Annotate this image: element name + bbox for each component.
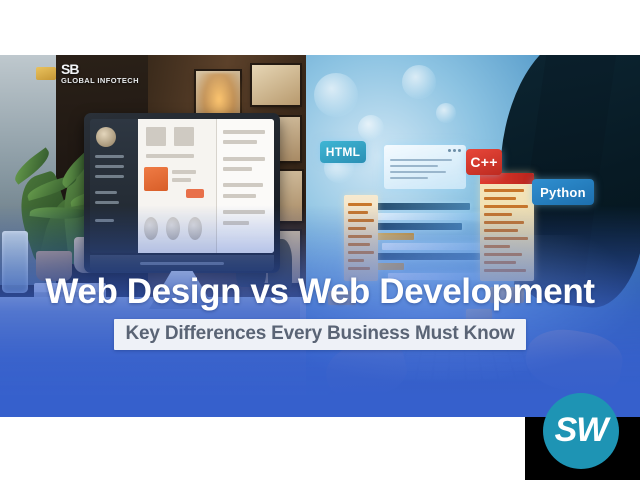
sidebar-row xyxy=(95,191,117,194)
code-line xyxy=(348,259,364,262)
brand-watermark: SB GLOBAL INFOTECH xyxy=(36,62,139,85)
code-window-card xyxy=(384,145,466,189)
window-dots-icon xyxy=(448,149,461,152)
sidebar-row xyxy=(95,155,124,158)
code-line xyxy=(348,235,372,238)
code-line xyxy=(484,197,516,200)
code-line xyxy=(348,203,372,206)
subtitle-box: Key Differences Every Business Must Know xyxy=(114,319,525,350)
code-line xyxy=(484,229,518,232)
canvas-block xyxy=(174,127,194,146)
design-app-canvas xyxy=(138,119,274,253)
photo-collage-band: HTML C++ Python xyxy=(0,55,640,417)
canvas-panel-left xyxy=(138,119,216,253)
bokeh-light xyxy=(314,73,358,117)
sw-logo-label: SW xyxy=(555,413,608,447)
code-line xyxy=(348,227,366,230)
brand-text: SB GLOBAL INFOTECH xyxy=(61,62,139,85)
bokeh-light xyxy=(436,103,456,123)
sidebar-row xyxy=(95,219,114,222)
code-line xyxy=(484,237,528,240)
code-bar xyxy=(376,213,496,220)
sidebar-row xyxy=(95,201,119,204)
wall-frame xyxy=(252,65,300,105)
tag-cpp: C++ xyxy=(466,149,502,175)
code-line xyxy=(484,221,524,224)
brand-initials: SB xyxy=(61,62,139,76)
canvas-block xyxy=(223,183,263,187)
brand-badge-icon xyxy=(36,67,56,80)
code-line xyxy=(348,219,374,222)
photo-web-design-workspace xyxy=(0,55,306,417)
canvas-block xyxy=(223,221,249,225)
canvas-block xyxy=(223,194,256,198)
canvas-panel-right xyxy=(216,119,274,253)
canvas-block xyxy=(223,130,265,134)
canvas-thumbnail xyxy=(166,217,180,240)
monitor-chin-bar xyxy=(140,262,225,265)
design-app-sidebar xyxy=(90,119,138,253)
code-hologram xyxy=(362,151,540,283)
canvas-block xyxy=(223,157,265,161)
code-line xyxy=(348,243,370,246)
page-subtitle: Key Differences Every Business Must Know xyxy=(125,323,514,345)
code-line xyxy=(348,267,370,270)
tag-html: HTML xyxy=(320,141,366,163)
monitor-chin xyxy=(90,255,274,271)
code-line xyxy=(348,251,374,254)
bokeh-light xyxy=(402,65,436,99)
card-line xyxy=(390,177,428,179)
canvas-button xyxy=(186,189,203,198)
canvas-block xyxy=(146,127,166,146)
code-panel-main xyxy=(480,173,534,281)
headline-block: Web Design vs Web Development Key Differ… xyxy=(0,272,640,350)
sidebar-row xyxy=(95,165,124,168)
sidebar-row xyxy=(95,175,124,178)
code-line xyxy=(484,253,522,256)
avatar xyxy=(96,127,116,147)
code-bar xyxy=(362,203,470,210)
code-line xyxy=(484,213,512,216)
canvas-block xyxy=(172,170,196,174)
banner-root: HTML C++ Python SB GLOBAL INFOTECH Web D… xyxy=(0,0,640,480)
code-bar xyxy=(366,223,462,230)
canvas-block xyxy=(223,167,253,171)
card-line xyxy=(390,159,452,161)
card-line xyxy=(390,171,446,173)
code-line xyxy=(484,189,524,192)
canvas-block xyxy=(146,154,195,158)
card-line xyxy=(390,165,438,167)
canvas-thumbnail xyxy=(144,217,158,240)
sw-logo-badge[interactable]: SW xyxy=(543,393,619,469)
page-title: Web Design vs Web Development xyxy=(0,272,640,312)
code-line xyxy=(484,261,516,264)
code-panel-side xyxy=(344,195,378,281)
code-line xyxy=(348,211,368,214)
monitor-screen xyxy=(90,119,274,253)
canvas-block xyxy=(223,210,265,214)
canvas-block xyxy=(223,140,257,144)
canvas-highlight-card xyxy=(144,167,168,191)
code-line xyxy=(484,205,528,208)
bokeh-light xyxy=(358,115,384,141)
photo-web-development-code: HTML C++ Python xyxy=(306,55,640,417)
code-bar xyxy=(370,253,480,260)
code-line xyxy=(484,245,510,248)
brand-name: GLOBAL INFOTECH xyxy=(61,77,139,85)
canvas-thumbnail xyxy=(188,217,202,240)
imac-monitor xyxy=(84,113,280,273)
canvas-block xyxy=(172,178,191,182)
tag-python: Python xyxy=(532,179,594,205)
